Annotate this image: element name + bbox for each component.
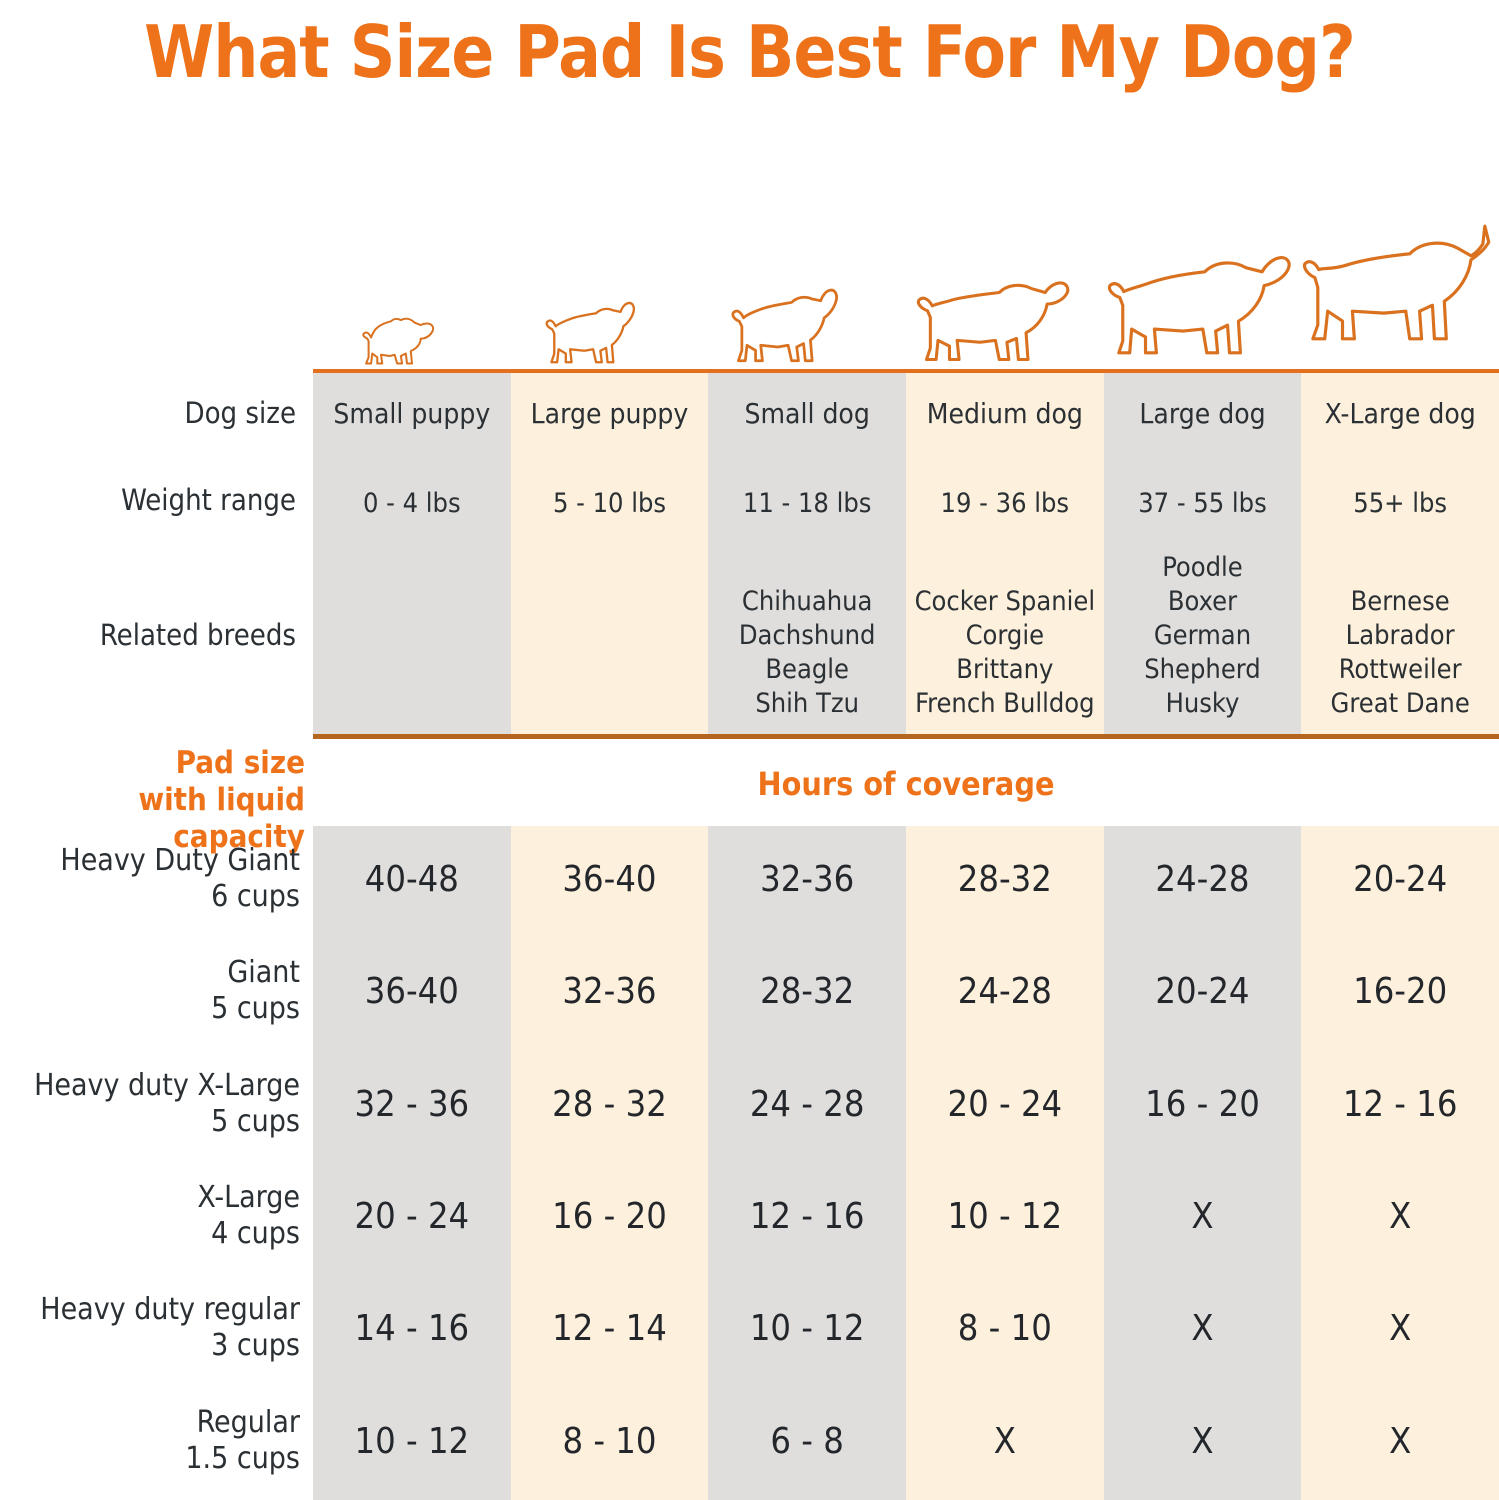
pad-size-row-label-line: Giant	[0, 955, 300, 991]
coverage-cell: 24-28	[906, 971, 1104, 1013]
hours-of-coverage-header: Hours of coverage	[313, 765, 1499, 803]
upper-table: Dog sizeWeight rangeRelated breedsSmall …	[0, 373, 1499, 737]
weight-range-cell: 19 - 36 lbs	[906, 487, 1104, 521]
coverage-cell: 10 - 12	[313, 1421, 511, 1463]
dog-size-cell: Medium dog	[906, 397, 1104, 431]
coverage-cell: 20-24	[1301, 859, 1499, 901]
pad-size-row-label: Regular1.5 cups	[0, 1405, 300, 1477]
coverage-cell: 10 - 12	[906, 1196, 1104, 1238]
weight-range-cell: 5 - 10 lbs	[511, 487, 709, 521]
pad-size-row-label-line: 5 cups	[0, 991, 300, 1027]
breed-name: Brittany	[906, 653, 1104, 687]
coverage-cell: 32 - 36	[313, 1084, 511, 1126]
coverage-cell-unavailable: X	[1301, 1196, 1499, 1238]
breed-name: Shih Tzu	[708, 687, 906, 721]
breed-name: Labrador	[1301, 619, 1499, 653]
coverage-cell-unavailable: X	[1104, 1196, 1302, 1238]
lower-column-band-4	[906, 826, 1104, 1500]
lower-column-band-2	[511, 826, 709, 1500]
coverage-cell: 8 - 10	[511, 1421, 709, 1463]
breed-name: Poodle	[1104, 551, 1302, 585]
breed-name: Boxer	[1104, 585, 1302, 619]
pad-size-row-label: X-Large4 cups	[0, 1180, 300, 1252]
small-dog-icon	[708, 251, 906, 371]
section-divider-rule	[313, 734, 1499, 739]
page-title: What Size Pad Is Best For My Dog?	[15, 4, 1484, 100]
dog-silhouette-strip	[313, 160, 1499, 371]
pad-size-row-label: Heavy duty X-Large5 cups	[0, 1068, 300, 1140]
coverage-cell: 14 - 16	[313, 1308, 511, 1350]
related-breeds-cell: Cocker SpanielCorgieBrittanyFrench Bulld…	[906, 585, 1104, 721]
coverage-cell: 12 - 16	[708, 1196, 906, 1238]
related-breeds-cell: PoodleBoxerGermanShepherdHusky	[1104, 551, 1302, 721]
dog-size-cell: Large puppy	[511, 397, 709, 431]
pad-size-row-label-line: 5 cups	[0, 1104, 300, 1140]
pad-size-header-line: Pad size	[0, 745, 305, 782]
lower-table: Heavy Duty Giant6 cups40-4836-4032-3628-…	[0, 826, 1499, 1500]
coverage-cell: 8 - 10	[906, 1308, 1104, 1350]
weight-range-cell: 37 - 55 lbs	[1104, 487, 1302, 521]
breed-name: Cocker Spaniel	[906, 585, 1104, 619]
coverage-cell: 24 - 28	[708, 1084, 906, 1126]
coverage-cell: 20 - 24	[313, 1196, 511, 1238]
coverage-cell: 20-24	[1104, 971, 1302, 1013]
breed-name: Bernese	[1301, 585, 1499, 619]
pad-size-row-label-line: 3 cups	[0, 1328, 300, 1364]
pad-size-row-label-line: 1.5 cups	[0, 1441, 300, 1477]
upper-row-label-dog-size: Dog size	[0, 396, 296, 430]
coverage-cell: 32-36	[511, 971, 709, 1013]
coverage-cell-unavailable: X	[1301, 1421, 1499, 1463]
pad-size-row-label-line: Heavy duty regular	[0, 1292, 300, 1328]
coverage-cell: 20 - 24	[906, 1084, 1104, 1126]
coverage-cell-unavailable: X	[906, 1421, 1104, 1463]
weight-range-cell: 0 - 4 lbs	[313, 487, 511, 521]
x-large-dog-icon	[1301, 192, 1499, 371]
related-breeds-cell: BerneseLabradorRottweilerGreat Dane	[1301, 585, 1499, 721]
pad-size-row-label: Heavy Duty Giant6 cups	[0, 843, 300, 915]
coverage-cell: 16 - 20	[1104, 1084, 1302, 1126]
pad-size-row-label-line: Regular	[0, 1405, 300, 1441]
pad-size-row-label: Heavy duty regular3 cups	[0, 1292, 300, 1364]
coverage-cell: 36-40	[511, 859, 709, 901]
pad-size-row-label-line: Heavy duty X-Large	[0, 1068, 300, 1104]
upper-row-label-weight-range: Weight range	[0, 483, 296, 517]
pad-size-row-label-line: X-Large	[0, 1180, 300, 1216]
breed-name: Chihuahua	[708, 585, 906, 619]
pad-size-row-label-line: Heavy Duty Giant	[0, 843, 300, 879]
coverage-cell: 10 - 12	[708, 1308, 906, 1350]
coverage-cell: 36-40	[313, 971, 511, 1013]
related-breeds-cell: ChihuahuaDachshundBeagleShih Tzu	[708, 585, 906, 721]
breed-name: Beagle	[708, 653, 906, 687]
coverage-cell-unavailable: X	[1104, 1308, 1302, 1350]
lower-column-band-3	[708, 826, 906, 1500]
coverage-cell: 16 - 20	[511, 1196, 709, 1238]
coverage-cell-unavailable: X	[1104, 1421, 1302, 1463]
coverage-cell: 28-32	[708, 971, 906, 1013]
dog-size-cell: Small dog	[708, 397, 906, 431]
lower-column-band-5	[1104, 826, 1302, 1500]
large-dog-icon	[1104, 220, 1302, 371]
breed-name: German	[1104, 619, 1302, 653]
coverage-cell: 12 - 14	[511, 1308, 709, 1350]
breed-name: Rottweiler	[1301, 653, 1499, 687]
coverage-cell: 16-20	[1301, 971, 1499, 1013]
coverage-cell: 6 - 8	[708, 1421, 906, 1463]
small-puppy-dog-icon	[313, 284, 511, 371]
pad-size-row-label: Giant5 cups	[0, 955, 300, 1027]
pad-size-row-label-line: 6 cups	[0, 879, 300, 915]
coverage-cell: 28-32	[906, 859, 1104, 901]
dog-size-cell: Large dog	[1104, 397, 1302, 431]
dog-size-cell: Small puppy	[313, 397, 511, 431]
medium-dog-icon	[906, 237, 1104, 371]
breed-name: Husky	[1104, 687, 1302, 721]
coverage-cell: 12 - 16	[1301, 1084, 1499, 1126]
coverage-cell: 28 - 32	[511, 1084, 709, 1126]
large-puppy-dog-icon	[511, 270, 709, 371]
lower-column-band-1	[313, 826, 511, 1500]
weight-range-cell: 55+ lbs	[1301, 487, 1499, 521]
coverage-cell-unavailable: X	[1301, 1308, 1499, 1350]
weight-range-cell: 11 - 18 lbs	[708, 487, 906, 521]
breed-name: Dachshund	[708, 619, 906, 653]
pad-size-row-label-line: 4 cups	[0, 1216, 300, 1252]
breed-name: Corgie	[906, 619, 1104, 653]
coverage-cell: 32-36	[708, 859, 906, 901]
breed-name: Shepherd	[1104, 653, 1302, 687]
dog-size-cell: X-Large dog	[1301, 397, 1499, 431]
breed-name: Great Dane	[1301, 687, 1499, 721]
upper-row-label-related-breeds: Related breeds	[0, 618, 296, 652]
breed-name: French Bulldog	[906, 687, 1104, 721]
lower-column-band-6	[1301, 826, 1499, 1500]
coverage-cell: 24-28	[1104, 859, 1302, 901]
coverage-cell: 40-48	[313, 859, 511, 901]
